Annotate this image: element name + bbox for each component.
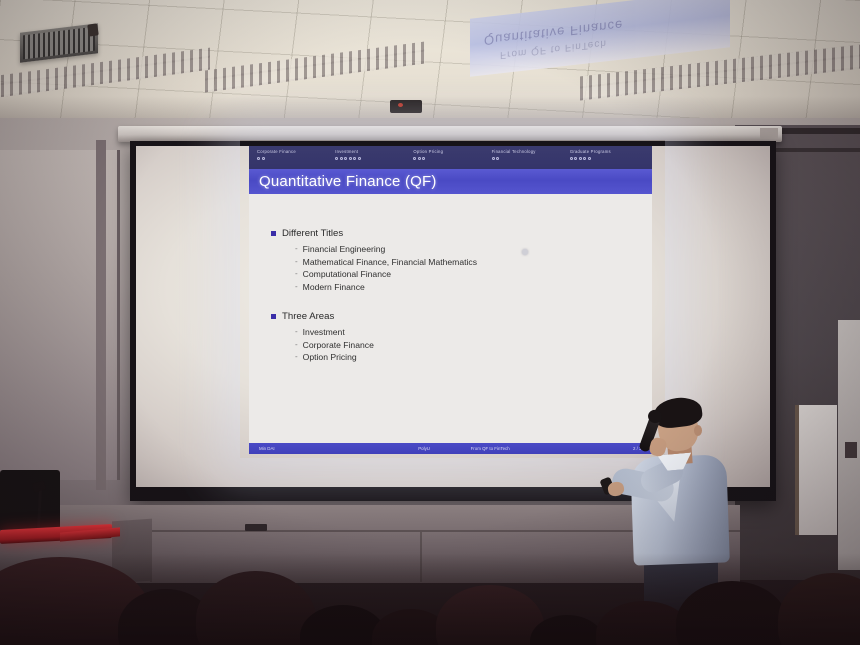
slide-footer: Min DAI PolyU From QF to FinTech 2 / 30 bbox=[249, 443, 652, 454]
dash-bullet-icon: - bbox=[295, 256, 298, 269]
nav-progress-dots bbox=[413, 157, 491, 160]
nav-dot bbox=[335, 157, 338, 160]
nav-dot bbox=[262, 157, 265, 160]
nav-section-label: Financial Technology bbox=[492, 148, 570, 155]
slide-title-bar: Quantitative Finance (QF) bbox=[249, 169, 652, 194]
bullet-heading-label: Three Areas bbox=[282, 311, 334, 322]
list-item: - Corporate Finance bbox=[271, 339, 652, 352]
slide-section-nav: Corporate Finance Investment Opt bbox=[249, 146, 652, 169]
nav-dot bbox=[418, 157, 421, 160]
nav-dot bbox=[413, 157, 416, 160]
list-item: - Option Pricing bbox=[271, 351, 652, 364]
list-item-label: Corporate Finance bbox=[303, 339, 374, 352]
nav-dot bbox=[570, 157, 573, 160]
bullet-heading-label: Different Titles bbox=[282, 228, 343, 239]
nav-dot bbox=[579, 157, 582, 160]
list-item: - Investment bbox=[271, 326, 652, 339]
nav-progress-dots bbox=[257, 157, 335, 160]
projection-screen-housing bbox=[118, 126, 782, 142]
door-handle[interactable] bbox=[845, 442, 857, 458]
list-item: - Mathematical Finance, Financial Mathem… bbox=[271, 256, 652, 269]
nav-dot bbox=[574, 157, 577, 160]
nav-dot bbox=[257, 157, 260, 160]
nav-dot bbox=[583, 157, 586, 160]
slide-body: Different Titles - Financial Engineering… bbox=[249, 194, 652, 443]
nav-section-financial-technology[interactable]: Financial Technology bbox=[492, 148, 570, 169]
nav-section-label: Option Pricing bbox=[413, 148, 491, 155]
nav-dot bbox=[344, 157, 347, 160]
nav-progress-dots bbox=[492, 157, 570, 160]
nav-progress-dots bbox=[570, 157, 648, 160]
whiteboard bbox=[795, 405, 837, 535]
nav-section-label: Corporate Finance bbox=[257, 148, 335, 155]
nav-section-corporate-finance[interactable]: Corporate Finance bbox=[257, 148, 335, 169]
nav-dot bbox=[496, 157, 499, 160]
nav-dot bbox=[422, 157, 425, 160]
list-item-label: Mathematical Finance, Financial Mathemat… bbox=[303, 256, 477, 269]
bullet-group: Different Titles - Financial Engineering… bbox=[271, 228, 652, 293]
presenter-ear bbox=[694, 425, 702, 436]
nav-section-investment[interactable]: Investment bbox=[335, 148, 413, 169]
list-item-label: Financial Engineering bbox=[303, 243, 386, 256]
ceiling: Quantitative Finance From QF to FinTech bbox=[0, 0, 860, 132]
nav-dot bbox=[492, 157, 495, 160]
footer-author: Min DAI bbox=[249, 446, 418, 451]
list-item: - Modern Finance bbox=[271, 281, 652, 294]
desk-device bbox=[245, 524, 267, 531]
lecture-hall-scene: Quantitative Finance From QF to FinTech … bbox=[0, 0, 860, 645]
bullet-heading: Different Titles bbox=[271, 228, 652, 239]
mouse-cursor-dot bbox=[522, 249, 528, 255]
audience-silhouettes bbox=[0, 553, 860, 645]
bullet-group: Three Areas - Investment - Corporate Fin… bbox=[271, 311, 652, 364]
left-wall-edge bbox=[96, 140, 106, 490]
presenter-hand-holding-clicker bbox=[607, 481, 625, 498]
footer-presentation-title: From QF to FinTech bbox=[471, 446, 600, 451]
nav-progress-dots bbox=[335, 157, 413, 160]
list-item: - Financial Engineering bbox=[271, 243, 652, 256]
nav-dot bbox=[340, 157, 343, 160]
dash-bullet-icon: - bbox=[295, 339, 298, 352]
nav-dot bbox=[349, 157, 352, 160]
dash-bullet-icon: - bbox=[295, 268, 298, 281]
nav-section-label: Graduate Programs bbox=[570, 148, 648, 155]
bullet-heading: Three Areas bbox=[271, 311, 652, 322]
nav-dot bbox=[353, 157, 356, 160]
list-item: - Computational Finance bbox=[271, 268, 652, 281]
list-item-label: Computational Finance bbox=[303, 268, 391, 281]
dash-bullet-icon: - bbox=[295, 243, 298, 256]
list-item-label: Investment bbox=[303, 326, 345, 339]
footer-organization: PolyU bbox=[418, 446, 470, 451]
square-bullet-icon bbox=[271, 314, 276, 319]
nav-dot bbox=[588, 157, 591, 160]
audience-shadow-gradient bbox=[0, 553, 860, 645]
screen-roller-cap bbox=[760, 128, 778, 139]
nav-section-option-pricing[interactable]: Option Pricing bbox=[413, 148, 491, 169]
square-bullet-icon bbox=[271, 231, 276, 236]
nav-section-graduate-programs[interactable]: Graduate Programs bbox=[570, 148, 648, 169]
list-item-label: Modern Finance bbox=[303, 281, 365, 294]
slide-title: Quantitative Finance (QF) bbox=[249, 173, 437, 190]
dash-bullet-icon: - bbox=[295, 281, 298, 294]
dash-bullet-icon: - bbox=[295, 326, 298, 339]
fire-sprinkler-icon bbox=[87, 23, 99, 36]
nav-section-label: Investment bbox=[335, 148, 413, 155]
presentation-slide: Corporate Finance Investment Opt bbox=[249, 146, 652, 454]
list-item-label: Option Pricing bbox=[303, 351, 357, 364]
nav-dot bbox=[358, 157, 361, 160]
dash-bullet-icon: - bbox=[295, 351, 298, 364]
